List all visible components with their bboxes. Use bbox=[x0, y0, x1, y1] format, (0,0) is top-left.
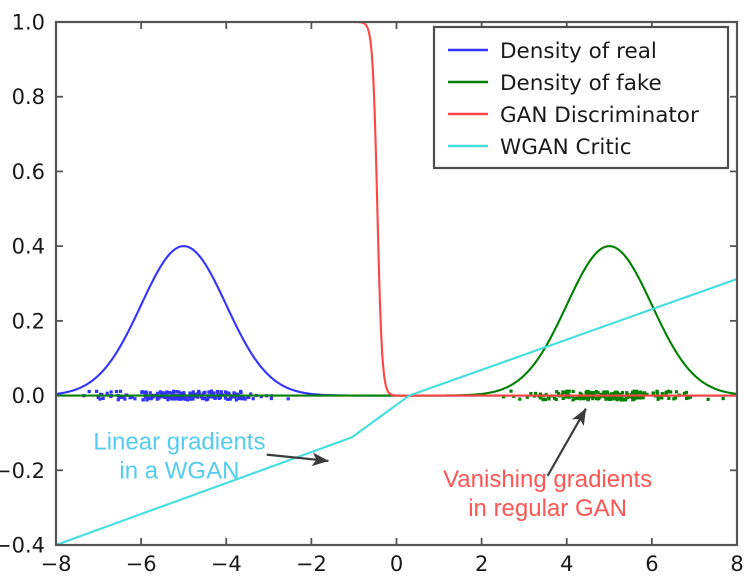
y-tick-label: 1.0 bbox=[12, 11, 45, 35]
legend-label-3: WGAN Critic bbox=[500, 135, 632, 160]
x-tick-label: −6 bbox=[126, 552, 157, 576]
chart-legend[interactable]: Density of realDensity of fakeGAN Discri… bbox=[434, 27, 728, 168]
x-tick-label: −8 bbox=[41, 552, 72, 576]
y-tick-label: −0.2 bbox=[0, 459, 45, 483]
figure-root: Linear gradientsin a WGANVanishing gradi… bbox=[0, 0, 756, 579]
x-tick-label: 8 bbox=[730, 552, 743, 576]
y-tick-label: 0.8 bbox=[12, 85, 45, 109]
x-tick-label: 2 bbox=[475, 552, 488, 576]
legend-label-2: GAN Discriminator bbox=[500, 103, 699, 128]
x-tick-label: −2 bbox=[296, 552, 327, 576]
y-tick-label: 0.0 bbox=[12, 384, 45, 408]
y-tick-label: 0.6 bbox=[12, 160, 45, 184]
chart-svg: Linear gradientsin a WGANVanishing gradi… bbox=[0, 0, 756, 579]
chart-figure: Linear gradientsin a WGANVanishing gradi… bbox=[0, 0, 756, 579]
y-tick-label: −0.4 bbox=[0, 534, 45, 558]
x-tick-label: −4 bbox=[211, 552, 242, 576]
y-tick-label: 0.2 bbox=[12, 309, 45, 333]
x-tick-label: 0 bbox=[390, 552, 403, 576]
x-tick-label: 6 bbox=[645, 552, 658, 576]
y-tick-label: 0.4 bbox=[12, 235, 45, 259]
x-tick-label: 4 bbox=[560, 552, 573, 576]
legend-label-1: Density of fake bbox=[500, 71, 662, 96]
legend-label-0: Density of real bbox=[500, 39, 657, 64]
